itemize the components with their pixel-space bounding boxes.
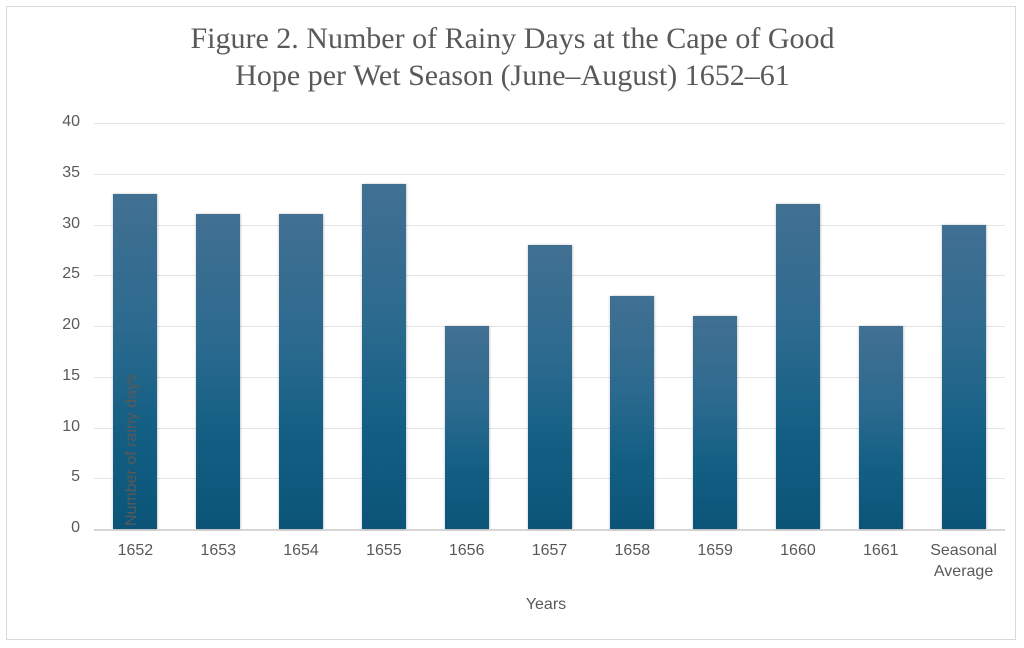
x-tick-label-line: 1655 bbox=[339, 540, 429, 561]
x-tick-label-line: Seasonal bbox=[919, 540, 1009, 561]
x-tick-label: SeasonalAverage bbox=[919, 540, 1009, 582]
x-tick-label-line: 1653 bbox=[173, 540, 263, 561]
y-tick-label: 35 bbox=[20, 164, 80, 182]
x-tick-label-line: 1657 bbox=[505, 540, 595, 561]
y-tick-label: 25 bbox=[20, 265, 80, 283]
x-tick-label: 1657 bbox=[505, 540, 595, 561]
y-tick-label: 30 bbox=[20, 215, 80, 233]
x-tick-label: 1652 bbox=[90, 540, 180, 561]
x-tick-label-line: 1660 bbox=[753, 540, 843, 561]
y-tick-label: 5 bbox=[20, 468, 80, 486]
x-tick-label: 1655 bbox=[339, 540, 429, 561]
x-tick-label-line: 1658 bbox=[587, 540, 677, 561]
x-tick-label-line: 1659 bbox=[670, 540, 760, 561]
figure-container: Figure 2. Number of Rainy Days at the Ca… bbox=[0, 0, 1024, 648]
x-tick-label-line: 1652 bbox=[90, 540, 180, 561]
y-tick-label: 15 bbox=[20, 367, 80, 385]
x-tick-label: 1658 bbox=[587, 540, 677, 561]
x-axis-tick-labels: 1652165316541655165616571658165916601661… bbox=[0, 540, 1024, 600]
x-tick-label-line: 1654 bbox=[256, 540, 346, 561]
y-tick-label: 40 bbox=[20, 113, 80, 131]
x-tick-label: 1654 bbox=[256, 540, 346, 561]
plot-wrapper: Number of rainy days 0510152025303540 16… bbox=[0, 0, 1024, 648]
x-tick-label: 1656 bbox=[422, 540, 512, 561]
x-tick-label-line: 1661 bbox=[836, 540, 926, 561]
x-tick-label-line: Average bbox=[919, 561, 1009, 582]
y-tick-label: 20 bbox=[20, 316, 80, 334]
x-tick-label: 1660 bbox=[753, 540, 843, 561]
x-tick-label: 1661 bbox=[836, 540, 926, 561]
x-axis-title: Years bbox=[446, 596, 646, 614]
x-tick-label-line: 1656 bbox=[422, 540, 512, 561]
y-tick-label: 10 bbox=[20, 418, 80, 436]
x-tick-label: 1653 bbox=[173, 540, 263, 561]
x-tick-label: 1659 bbox=[670, 540, 760, 561]
y-tick-label: 0 bbox=[20, 519, 80, 537]
